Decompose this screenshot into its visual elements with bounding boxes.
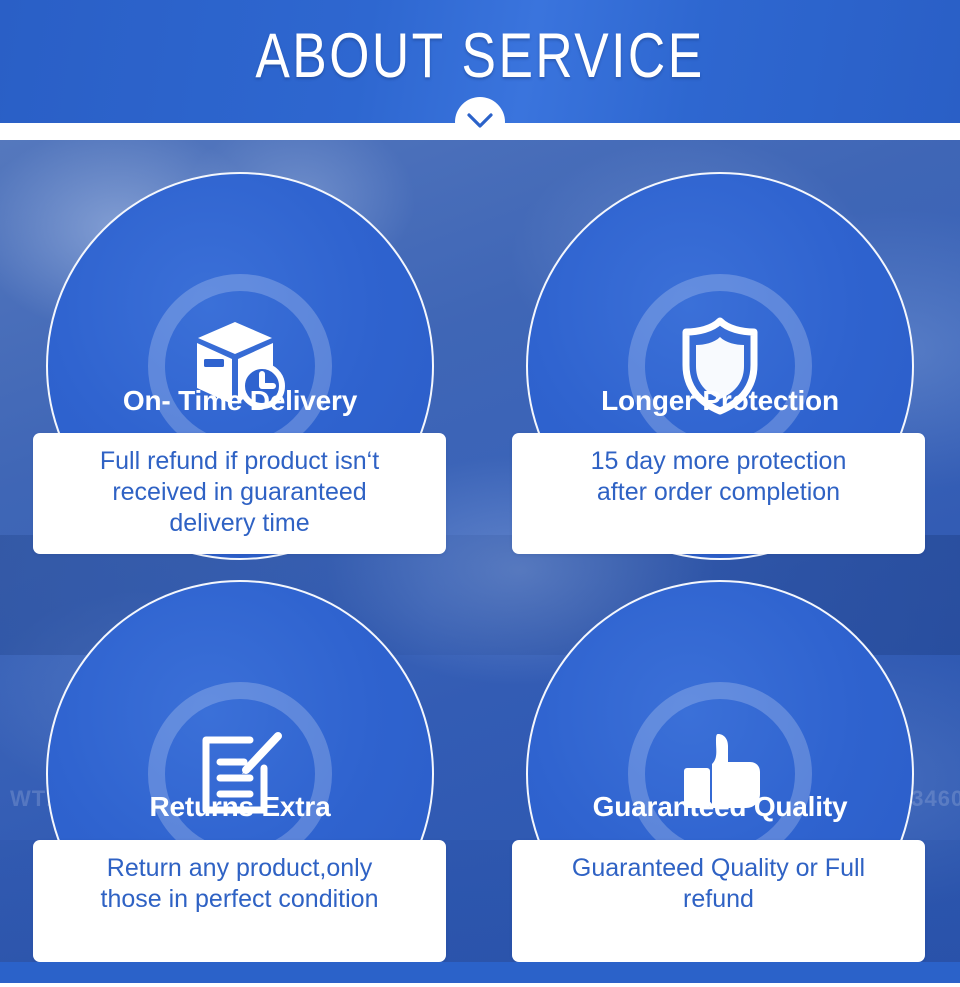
card-caption: Full refund if product isn‘t received in… — [33, 433, 446, 554]
card-caption: Return any product,only those in perfect… — [33, 840, 446, 962]
card-title: On- Time Delivery — [46, 384, 434, 418]
bottom-blue-strip — [0, 962, 960, 983]
card-title: Longer Protection — [526, 384, 914, 418]
card-caption: 15 day more protection after order compl… — [512, 433, 925, 554]
bottom-white-edge — [0, 983, 960, 987]
about-service-banner: ABOUT SERVICE WT17 134603 — [0, 0, 960, 987]
card-title: Returns Extra — [46, 790, 434, 824]
card-title: Guaranteed Quality — [526, 790, 914, 824]
page-title: ABOUT SERVICE — [86, 20, 873, 92]
card-caption: Guaranteed Quality or Full refund — [512, 840, 925, 962]
